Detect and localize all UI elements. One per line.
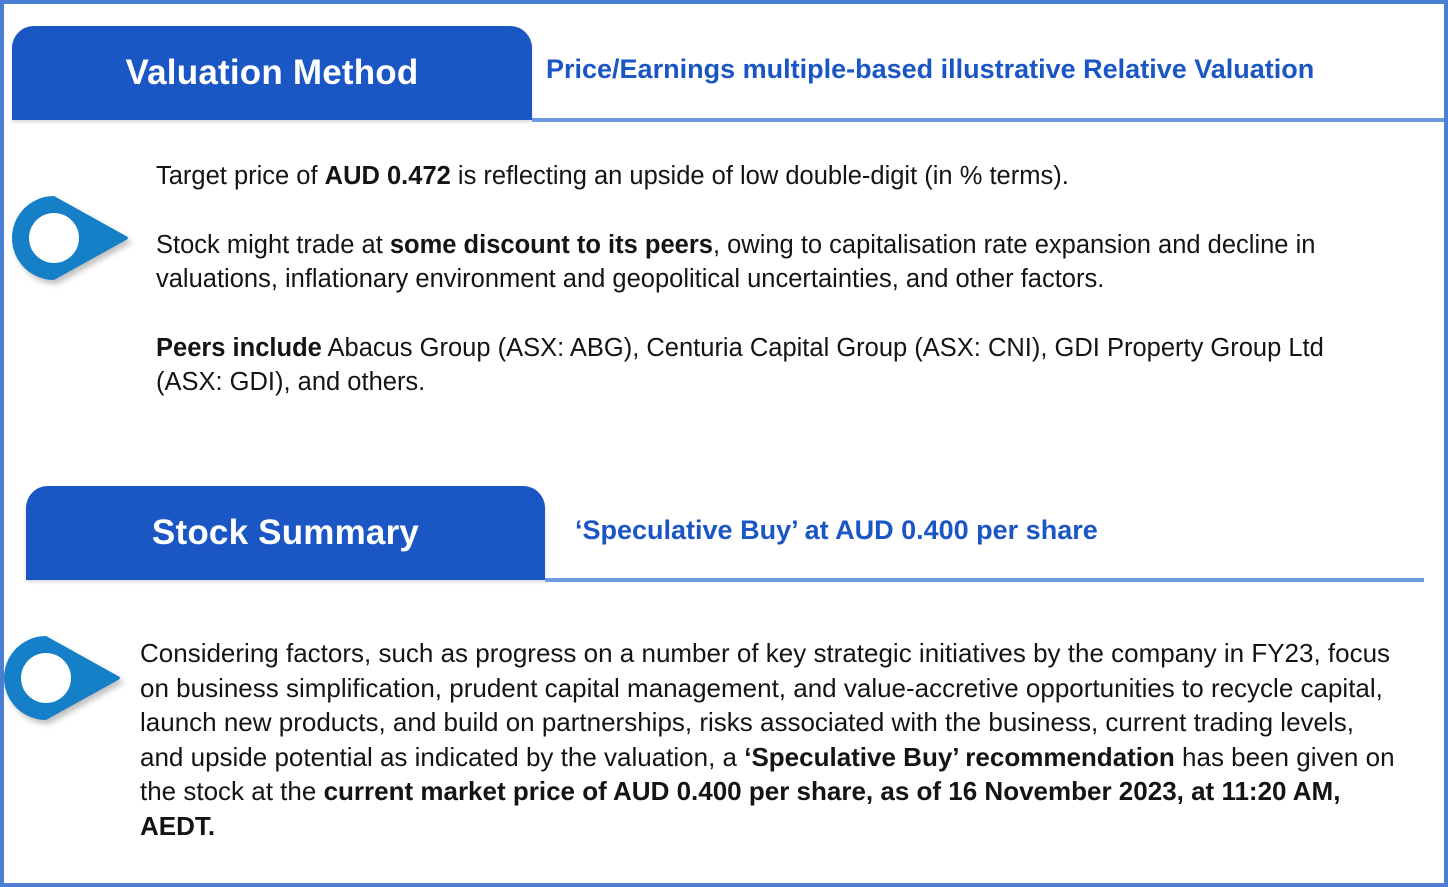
tab-valuation-method[interactable]: Valuation Method	[12, 26, 532, 120]
paragraph: Considering factors, such as progress on…	[140, 636, 1402, 843]
paragraph: Stock might trade at some discount to it…	[156, 228, 1336, 296]
text-run: Target price of	[156, 162, 325, 190]
header-rule-summary	[545, 578, 1424, 582]
text-run-bold: Peers include	[156, 334, 322, 362]
valuation-method-body: Target price of AUD 0.472 is reflecting …	[156, 159, 1336, 399]
text-run-bold: some discount to its peers	[390, 231, 713, 259]
text-run-bold: AUD 0.472	[325, 162, 451, 190]
tab-stock-summary[interactable]: Stock Summary	[26, 486, 545, 580]
tab-stock-summary-label: Stock Summary	[152, 513, 419, 553]
pin-bullet-icon	[0, 632, 128, 724]
stock-summary-title: ‘Speculative Buy’ at AUD 0.400 per share	[575, 515, 1098, 546]
text-run-bold: ‘Speculative Buy’ recommendation	[744, 742, 1175, 772]
slide-page: Valuation Method Price/Earnings multiple…	[0, 0, 1448, 887]
text-run: is reflecting an upside of low double-di…	[451, 162, 1069, 190]
tab-valuation-method-label: Valuation Method	[126, 53, 419, 93]
text-run: Stock might trade at	[156, 231, 390, 259]
valuation-method-title: Price/Earnings multiple-based illustrati…	[546, 54, 1314, 85]
pin-bullet-icon	[8, 192, 136, 284]
stock-summary-body: Considering factors, such as progress on…	[140, 636, 1402, 843]
paragraph: Peers include Abacus Group (ASX: ABG), C…	[156, 331, 1336, 399]
text-run: Abacus Group (ASX: ABG), Centuria Capita…	[156, 334, 1324, 396]
header-rule-valuation	[532, 118, 1444, 122]
paragraph: Target price of AUD 0.472 is reflecting …	[156, 159, 1336, 193]
